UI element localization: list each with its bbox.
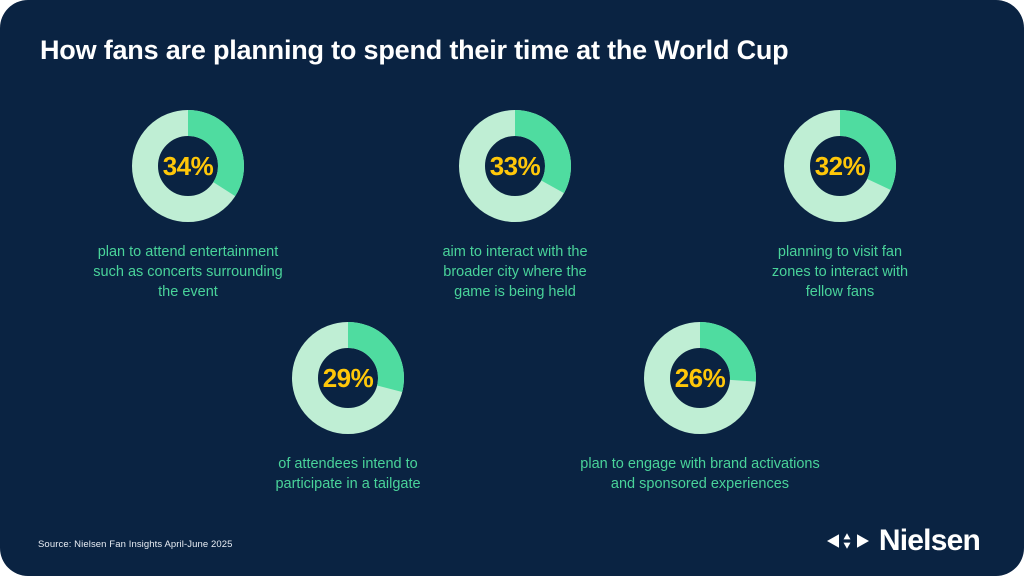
donut-chart-4: 26% (644, 322, 756, 434)
donut-value-label-2: 32% (784, 110, 896, 222)
donut-chart-2: 32% (784, 110, 896, 222)
stat-caption-3: of attendees intend to participate in a … (275, 454, 420, 494)
stat-caption-0: plan to attend entertainment such as con… (93, 242, 282, 302)
stat-caption-2: planning to visit fan zones to interact … (772, 242, 908, 302)
donut-chart-1: 33% (459, 110, 571, 222)
nielsen-arrows-mark-icon (827, 531, 869, 551)
stat-caption-4: plan to engage with brand activations an… (580, 454, 819, 494)
stat-card-4: 26% plan to engage with brand activation… (528, 322, 872, 494)
donut-value-label-3: 29% (292, 322, 404, 434)
source-note: Source: Nielsen Fan Insights April-June … (38, 539, 233, 550)
stat-card-3: 29% of attendees intend to participate i… (228, 322, 468, 494)
page-title: How fans are planning to spend their tim… (40, 34, 960, 66)
donut-value-label-1: 33% (459, 110, 571, 222)
nielsen-wordmark: Nielsen (879, 526, 980, 556)
donut-value-label-0: 34% (132, 110, 244, 222)
donut-value-label-4: 26% (644, 322, 756, 434)
stat-card-1: 33% aim to interact with the broader cit… (395, 110, 635, 302)
stat-caption-1: aim to interact with the broader city wh… (442, 242, 587, 302)
donut-chart-0: 34% (132, 110, 244, 222)
donut-chart-3: 29% (292, 322, 404, 434)
stat-card-2: 32% planning to visit fan zones to inter… (722, 110, 958, 302)
infographic-canvas: How fans are planning to spend their tim… (0, 0, 1024, 576)
stat-card-0: 34% plan to attend entertainment such as… (62, 110, 314, 302)
nielsen-logo: Nielsen (827, 526, 980, 556)
